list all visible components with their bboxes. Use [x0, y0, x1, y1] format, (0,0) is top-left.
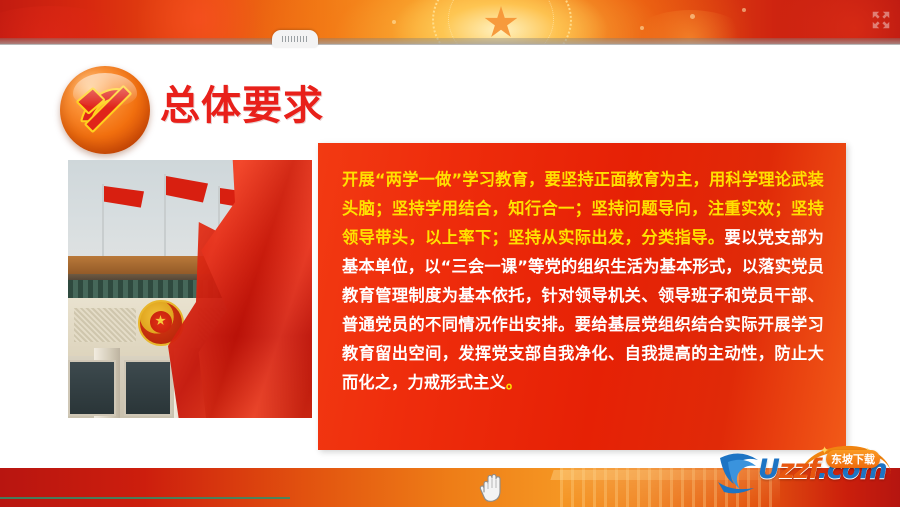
- fullscreen-expand-icon[interactable]: [870, 9, 892, 31]
- site-watermark: Uzzf.com ✦ ✦ 东坡下载: [714, 444, 894, 500]
- photo-flagpole: [102, 184, 104, 264]
- banner-dot: [690, 14, 695, 19]
- banner-dot: [742, 8, 746, 12]
- watermark-f: f: [808, 454, 817, 485]
- watermark-z2: z: [794, 454, 809, 485]
- page-title: 总体要求: [160, 73, 324, 131]
- body-text-final-period: 。: [506, 373, 522, 392]
- bottom-progress-line: [0, 497, 290, 499]
- red-content-box: 开展“两学一做”学习教育，要坚持正面教育为主，用科学理论武装头脑；坚持学用结合，…: [318, 143, 846, 450]
- open-hand-cursor-icon: [478, 472, 506, 504]
- banner-dot: [392, 20, 396, 24]
- tab-handle-grip-lines: [282, 36, 308, 42]
- photo-flagpole: [164, 174, 166, 264]
- red-box-paragraph: 开展“两学一做”学习教育，要坚持正面教育为主，用科学理论武装头脑；坚持学用结合，…: [342, 165, 824, 397]
- watermark-z1: z: [779, 454, 794, 485]
- photo-window: [68, 360, 116, 416]
- party-hammer-sickle-icon: [60, 66, 150, 154]
- body-text-white: 要以党支部为基本单位，以“三会一课”等党的组织生活为基本形式，以落实党员教育管理…: [342, 228, 824, 392]
- watermark-badge: 东坡下载: [826, 450, 880, 468]
- emblem-gloss-highlight: [73, 73, 138, 108]
- presentation-slide: 总体要求 开展“两学一做”学习教育，要坚持正面教育为主，用科学理论武装头脑；坚持…: [0, 0, 900, 507]
- photo-window: [124, 360, 172, 416]
- slide-top-banner: [0, 0, 900, 44]
- banner-dot: [640, 26, 644, 30]
- photo-relief-left: [74, 308, 136, 342]
- great-hall-photo: [68, 160, 312, 418]
- watermark-u: U: [758, 454, 779, 485]
